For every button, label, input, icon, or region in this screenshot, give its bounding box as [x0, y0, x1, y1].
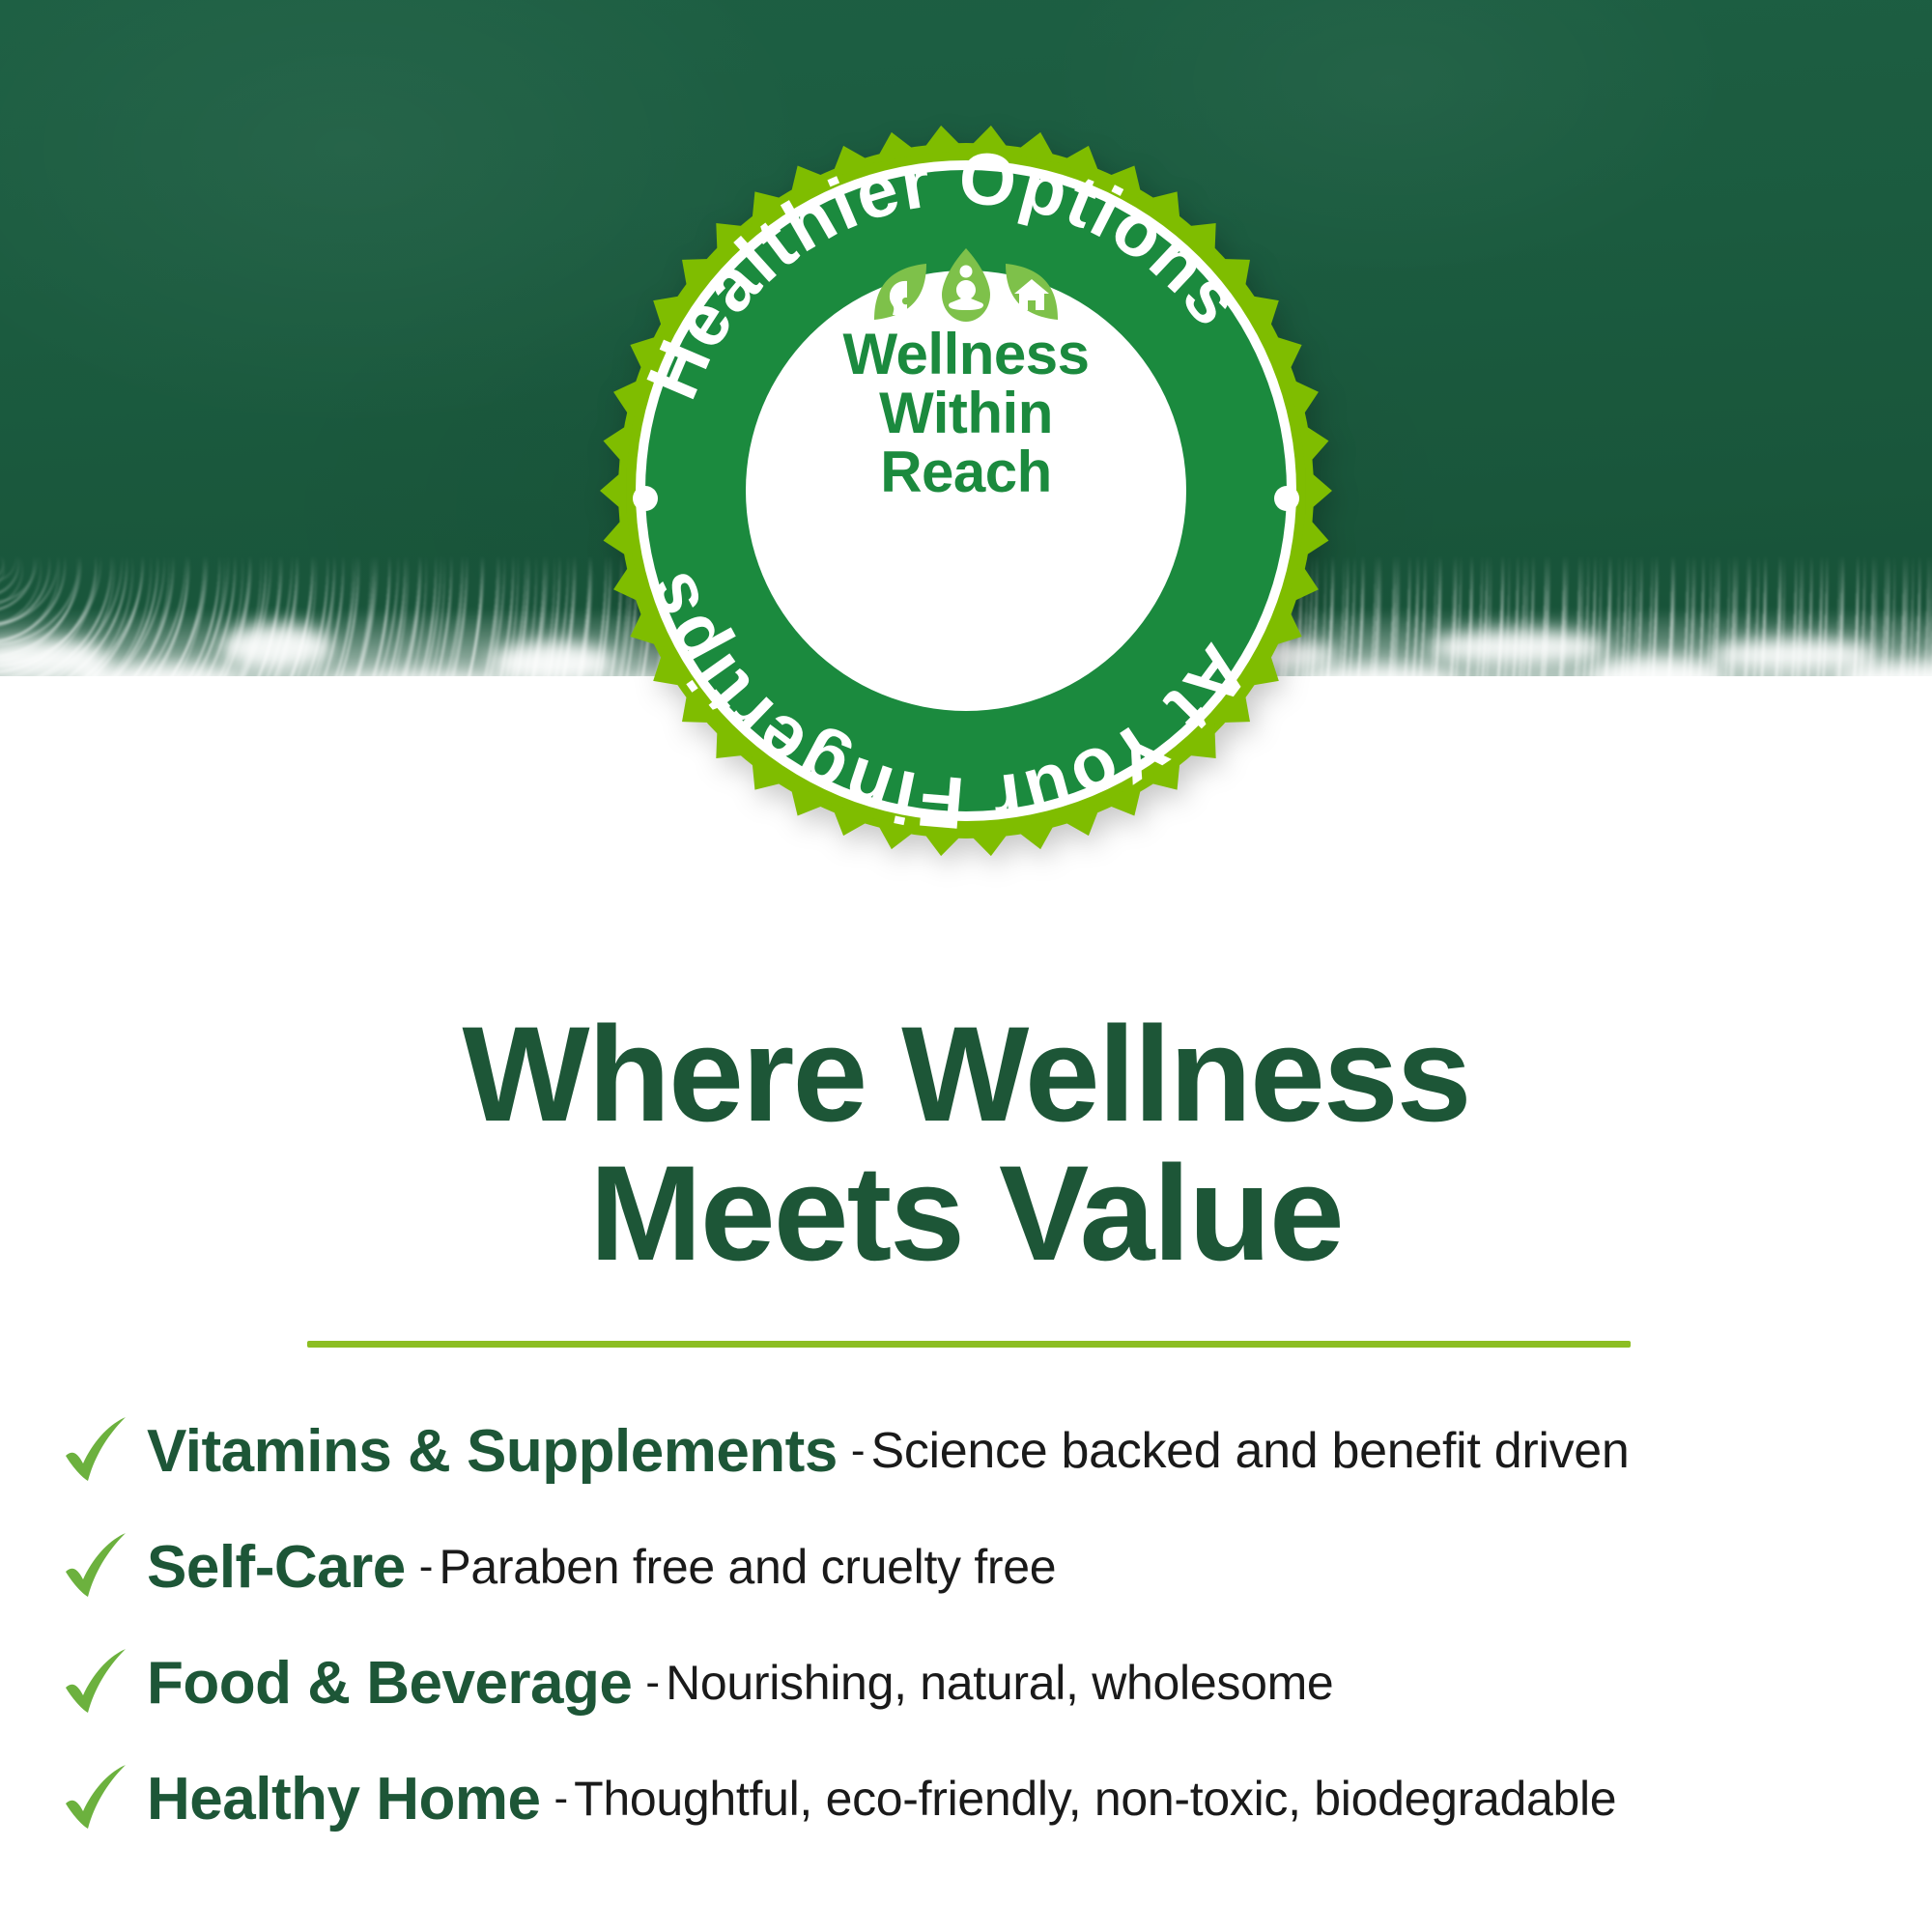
list-item-description: Paraben free and cruelty free [439, 1539, 1056, 1595]
page-title-line-2: Meets Value [0, 1144, 1932, 1283]
list-item-description: Science backed and benefit driven [870, 1422, 1629, 1480]
list-item: Self-Care - Paraben free and cruelty fre… [54, 1509, 1899, 1625]
list-item-dash: - [406, 1543, 440, 1591]
list-item-dash: - [540, 1775, 574, 1823]
list-item-description: Nourishing, natural, wholesome [666, 1655, 1333, 1711]
page-title: Where Wellness Meets Value [0, 1005, 1932, 1283]
check-icon [54, 1757, 137, 1840]
check-icon [54, 1409, 137, 1492]
badge-inner-face [755, 280, 1177, 701]
list-item-description: Thoughtful, eco-friendly, non-toxic, bio… [574, 1771, 1616, 1827]
wellness-badge: Healthier Options At Your Fingertips [589, 114, 1343, 867]
list-item: Vitamins & Supplements - Science backed … [54, 1393, 1899, 1509]
list-item-dash: - [838, 1427, 871, 1475]
list-item-title: Food & Beverage [147, 1649, 632, 1718]
page-title-line-1: Where Wellness [0, 1005, 1932, 1144]
check-icon [54, 1525, 137, 1608]
list-item-dash: - [632, 1659, 666, 1707]
list-item-title: Vitamins & Supplements [147, 1417, 838, 1486]
list-item-title: Healthy Home [147, 1765, 540, 1833]
feature-list: Vitamins & Supplements - Science backed … [54, 1393, 1899, 1857]
list-item: Healthy Home - Thoughtful, eco-friendly,… [54, 1741, 1899, 1857]
list-item-title: Self-Care [147, 1533, 406, 1602]
promo-banner: Healthier Options At Your Fingertips [0, 0, 1932, 1932]
check-icon [54, 1641, 137, 1724]
badge-dot-left [633, 486, 658, 511]
divider-rule [307, 1341, 1631, 1348]
list-item: Food & Beverage - Nourishing, natural, w… [54, 1625, 1899, 1741]
badge-dot-right [1274, 486, 1299, 511]
